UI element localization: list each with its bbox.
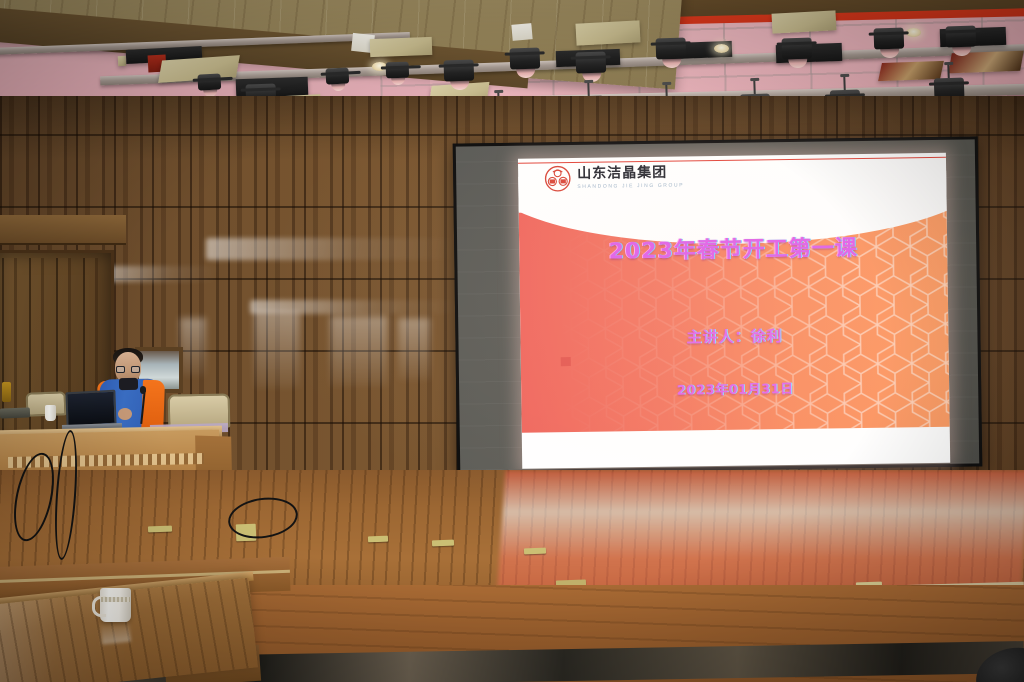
slide-title: 2023年春节开工第一课	[608, 230, 858, 265]
microphone-icon	[140, 386, 146, 394]
slide-presenter: 主讲人：徐利	[686, 325, 782, 347]
light-flag	[370, 37, 433, 57]
wall-reflection	[254, 312, 300, 388]
floor-tape-mark	[524, 548, 546, 555]
desk-plant	[2, 382, 11, 402]
presenter-collar	[119, 378, 138, 390]
light-flag	[575, 20, 640, 45]
projection-screen[interactable]: 山东洁晶集团 SHANDONG JIE JING GROUP 2023年春节开工…	[453, 136, 983, 473]
light-flag	[118, 56, 127, 66]
floor-tape-mark	[148, 526, 172, 533]
stage-light	[325, 67, 349, 91]
stage-light	[575, 51, 606, 82]
light-flag	[772, 10, 837, 33]
desk-cup	[45, 405, 56, 421]
presentation-slide: 山东洁晶集团 SHANDONG JIE JING GROUP 2023年春节开工…	[518, 153, 950, 469]
wall-reflection	[398, 318, 430, 380]
glasses-icon	[116, 366, 140, 373]
stage-light	[386, 62, 410, 86]
mug-reflection	[100, 620, 131, 645]
stage-light	[945, 25, 976, 56]
auditorium-photo: 热烈 庆祝	[0, 0, 1024, 682]
wall-reflection	[330, 316, 388, 386]
stage-light	[873, 27, 904, 58]
wall-reflection	[206, 238, 456, 260]
laptop-screen[interactable]	[65, 390, 116, 428]
wall-trim-left	[0, 215, 126, 245]
stage-light	[781, 37, 812, 68]
wall-reflection	[180, 318, 206, 376]
stage-light	[509, 47, 540, 78]
floor-tape-mark	[432, 540, 454, 547]
wall-reflection	[98, 266, 218, 282]
slide-text-block: 2023年春节开工第一课 主讲人：徐利 2023年01月31日	[518, 153, 950, 469]
white-ceramic-mug[interactable]	[100, 588, 131, 622]
ceiling-downlight	[714, 44, 729, 53]
white-flag	[511, 23, 532, 41]
stage-light	[655, 37, 686, 68]
presenter-hand	[118, 408, 132, 420]
slide-date: 2023年01月31日	[677, 378, 794, 399]
stage-light	[443, 59, 474, 90]
desk-tray	[0, 407, 30, 418]
floor-tape-mark	[368, 536, 388, 543]
stage-light	[197, 73, 221, 97]
